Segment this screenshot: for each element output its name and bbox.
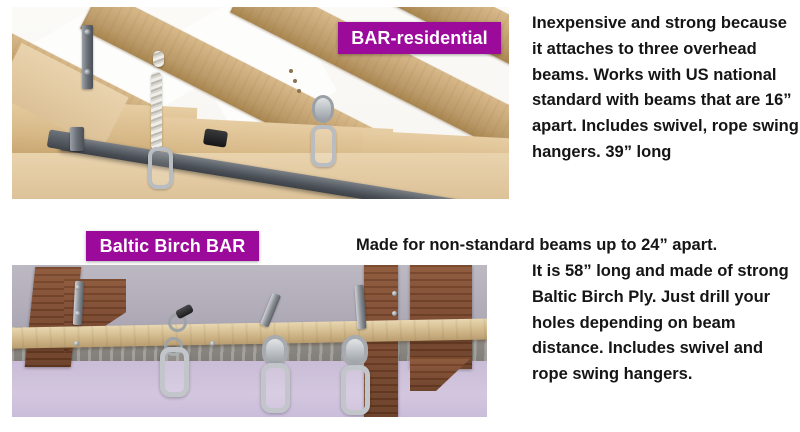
screw	[297, 89, 301, 93]
rope-wrap	[153, 51, 164, 67]
steel-bar-end-cap	[47, 129, 72, 150]
support-beam	[410, 265, 472, 369]
bracket-bolt	[84, 29, 91, 36]
product-badge-label: Baltic Birch BAR	[100, 236, 246, 257]
product-comparison-page: BAR-residential Inexpensive and strong b…	[0, 0, 800, 432]
screw	[74, 341, 79, 346]
screw	[289, 69, 293, 73]
product-photo-baltic-birch-bar	[12, 265, 487, 417]
bracket-bolt	[84, 69, 91, 76]
snap-hook	[160, 347, 189, 397]
product-description-lead-baltic-birch-bar: Made for non-standard beams up to 24” ap…	[356, 233, 756, 259]
screw	[392, 291, 397, 296]
snap-hook	[311, 125, 336, 167]
product-badge-bar-residential: BAR-residential	[338, 22, 501, 54]
swivel-hanger	[312, 95, 334, 123]
product-badge-baltic-birch-bar: Baltic Birch BAR	[86, 231, 259, 261]
screw	[75, 311, 80, 316]
screw	[75, 285, 80, 290]
screw	[210, 341, 215, 346]
product-badge-label: BAR-residential	[351, 28, 488, 49]
black-bolt-cap	[203, 128, 228, 147]
swivel-hanger	[342, 335, 368, 367]
product-description-bar-residential: Inexpensive and strong because it attach…	[532, 11, 800, 166]
snap-hook	[261, 363, 290, 413]
rope-swing-hanger	[151, 72, 162, 150]
snap-hook	[148, 147, 173, 189]
product-description-baltic-birch-bar: It is 58” long and made of strong Baltic…	[532, 259, 800, 388]
screw	[293, 79, 297, 83]
snap-hook	[341, 365, 370, 415]
screw	[392, 311, 397, 316]
mounting-bracket	[70, 127, 84, 151]
